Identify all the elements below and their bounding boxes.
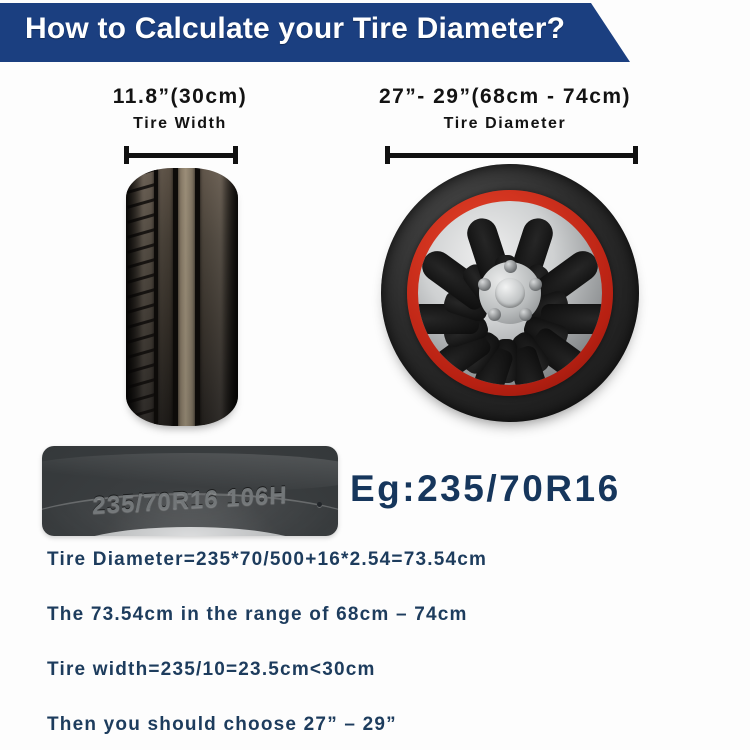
sidewall-dot-marker — [317, 502, 322, 507]
wheel-lug-nut — [478, 278, 491, 291]
wheel-lug-nut — [488, 308, 501, 321]
dimension-bar-line — [385, 153, 638, 158]
tread-groove — [173, 168, 178, 426]
tire-width-dimension-bar — [124, 146, 238, 164]
tread-center-rib — [178, 168, 195, 426]
tread-groove — [154, 168, 158, 426]
tread-shoulder-left — [126, 168, 142, 426]
alloy-wheel-side-view — [381, 164, 639, 422]
formula-line-recommendation: Then you should choose 27” – 29” — [47, 714, 397, 736]
tire-diameter-dimension-bar — [385, 146, 638, 164]
tire-width-value: 11.8”(30cm) — [30, 85, 330, 109]
tread-groove — [195, 168, 200, 426]
page-title: How to Calculate your Tire Diameter? — [25, 12, 585, 46]
tire-width-caption: Tire Width — [30, 115, 330, 133]
dimension-bar-right-cap — [233, 146, 238, 164]
tire-sidewall-marking-photo: 235/70R16 106H — [42, 446, 338, 536]
formula-line-range-check: The 73.54cm in the range of 68cm – 74cm — [47, 604, 468, 626]
wheel-lug-nut — [504, 260, 517, 273]
example-tire-code: Eg:235/70R16 — [350, 468, 621, 510]
tire-diameter-caption: Tire Diameter — [330, 115, 680, 133]
dimension-bar-line — [124, 153, 238, 158]
tire-diameter-label-group: 27”- 29”(68cm - 74cm) Tire Diameter — [330, 85, 680, 133]
dimension-bar-right-cap — [633, 146, 638, 164]
tire-width-label-group: 11.8”(30cm) Tire Width — [30, 85, 330, 133]
formula-line-diameter: Tire Diameter=235*70/500+16*2.54=73.54cm — [47, 549, 487, 571]
tire-tread-front-view — [126, 168, 238, 426]
tread-shoulder-right — [222, 168, 238, 426]
wheel-hub-cap — [495, 278, 525, 308]
formula-line-width: Tire width=235/10=23.5cm<30cm — [47, 659, 376, 681]
tire-diameter-value: 27”- 29”(68cm - 74cm) — [330, 85, 680, 109]
